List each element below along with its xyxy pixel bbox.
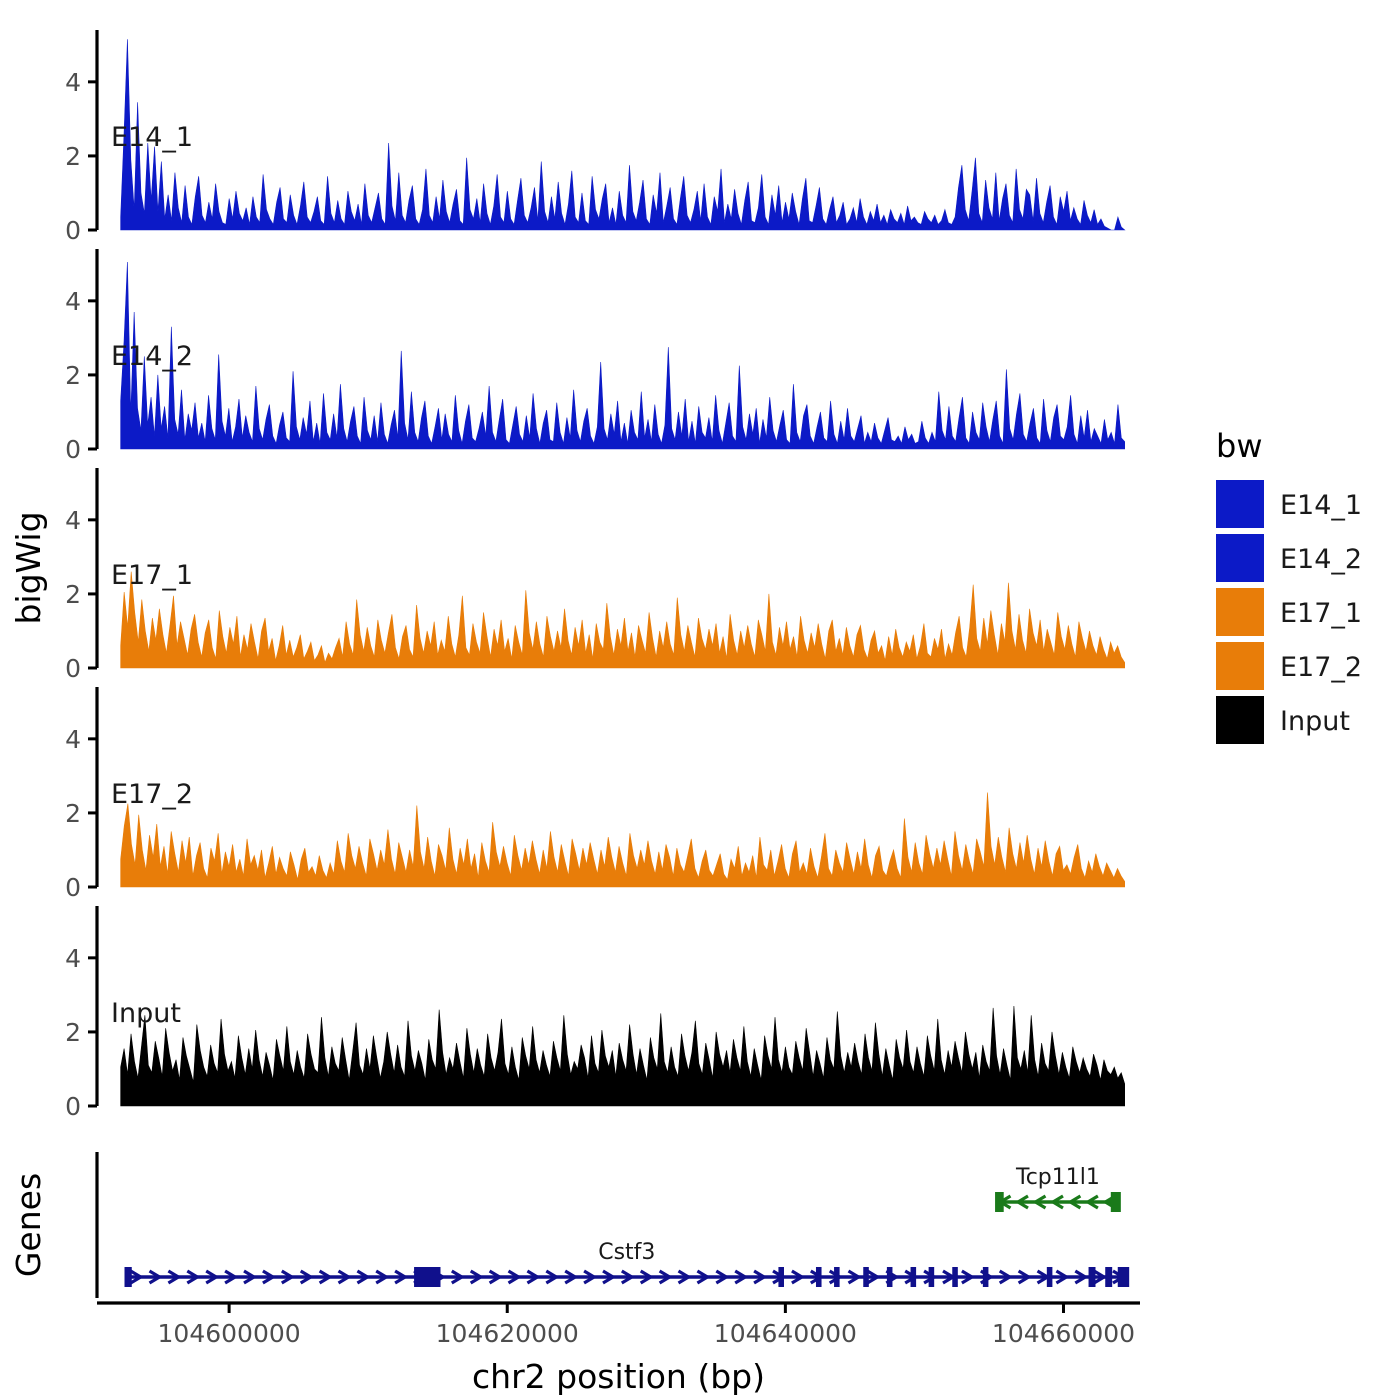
legend-item-e17_2[interactable]: E17_2 xyxy=(1216,642,1362,690)
track-name-label-input: Input xyxy=(111,998,181,1029)
x-axis-title: chr2 position (bp) xyxy=(472,1357,765,1396)
legend-item-e14_1[interactable]: E14_1 xyxy=(1216,480,1362,528)
genome-browser-figure: 024E14_1024E14_2024E17_1024E17_2024Input… xyxy=(0,0,1400,1400)
legend-label-e14_2: E14_2 xyxy=(1280,544,1362,575)
gene-cstf3[interactable]: Cstf3 xyxy=(126,1240,1127,1287)
y-tick-label-e17_1-2: 2 xyxy=(65,580,81,609)
track-panel-e17_2: 024E17_2 xyxy=(65,687,1125,902)
track-name-label-e14_1: E14_1 xyxy=(111,122,193,153)
track-panel-e14_2: 024E14_2 xyxy=(65,249,1125,464)
y-tick-label-e14_1-0: 0 xyxy=(65,216,81,245)
signal-area-input xyxy=(121,1006,1125,1106)
y-tick-label-e14_1-4: 4 xyxy=(65,68,81,97)
y-tick-label-input-0: 0 xyxy=(65,1092,81,1121)
gene-tcp11l1[interactable]: Tcp11l1 xyxy=(997,1165,1119,1212)
signal-area-e17_2 xyxy=(121,793,1125,887)
gene-exon xyxy=(911,1267,917,1287)
track-panel-e17_1: 024E17_1 xyxy=(65,468,1125,683)
legend-swatch-input xyxy=(1216,696,1264,744)
gene-exon xyxy=(929,1267,935,1287)
legend-item-e17_1[interactable]: E17_1 xyxy=(1216,588,1362,636)
gene-exon xyxy=(834,1267,840,1287)
legend: bwE14_1E14_2E17_1E17_2Input xyxy=(1216,427,1362,744)
gene-exon xyxy=(414,1267,440,1287)
track-panel-e14_1: 024E14_1 xyxy=(65,30,1125,245)
legend-label-e17_1: E17_1 xyxy=(1280,598,1362,629)
y-tick-label-e17_1-0: 0 xyxy=(65,654,81,683)
y-tick-label-e17_2-4: 4 xyxy=(65,725,81,754)
y-tick-label-e17_2-2: 2 xyxy=(65,799,81,828)
x-tick-label-104600000: 104600000 xyxy=(158,1319,301,1348)
gene-exon xyxy=(1089,1267,1096,1287)
legend-title: bw xyxy=(1216,427,1262,465)
y-tick-label-e14_2-4: 4 xyxy=(65,287,81,316)
signal-area-e14_1 xyxy=(121,39,1125,230)
track-panel-input: 024Input xyxy=(65,906,1125,1121)
track-name-label-e17_1: E17_1 xyxy=(111,560,193,591)
legend-label-e17_2: E17_2 xyxy=(1280,652,1362,683)
y-tick-label-e17_2-0: 0 xyxy=(65,873,81,902)
gene-exon xyxy=(778,1267,784,1287)
signal-area-e14_2 xyxy=(121,262,1125,449)
signal-area-e17_1 xyxy=(121,572,1125,668)
genes-panel: Tcp11l1Cstf3 xyxy=(97,1152,1127,1298)
y-tick-label-e14_2-0: 0 xyxy=(65,435,81,464)
legend-swatch-e14_2 xyxy=(1216,534,1264,582)
y-tick-label-e14_1-2: 2 xyxy=(65,142,81,171)
legend-item-input[interactable]: Input xyxy=(1216,696,1350,744)
legend-item-e14_2[interactable]: E14_2 xyxy=(1216,534,1362,582)
genes-axis-title: Genes xyxy=(9,1173,48,1277)
x-tick-label-104660000: 104660000 xyxy=(992,1319,1135,1348)
figure-root: 024E14_1024E14_2024E17_1024E17_2024Input… xyxy=(0,0,1400,1400)
track-name-label-e14_2: E14_2 xyxy=(111,341,193,372)
gene-exon xyxy=(952,1267,958,1287)
legend-swatch-e14_1 xyxy=(1216,480,1264,528)
track-name-label-e17_2: E17_2 xyxy=(111,779,193,810)
legend-label-input: Input xyxy=(1280,706,1350,737)
y-tick-label-e14_2-2: 2 xyxy=(65,361,81,390)
gene-exon xyxy=(983,1267,989,1287)
x-tick-label-104620000: 104620000 xyxy=(436,1319,579,1348)
gene-name-label-tcp11l1: Tcp11l1 xyxy=(1015,1165,1100,1190)
y-tick-label-input-2: 2 xyxy=(65,1018,81,1047)
gene-exon xyxy=(863,1267,869,1287)
legend-label-e14_1: E14_1 xyxy=(1280,490,1362,521)
gene-exon xyxy=(816,1267,822,1287)
gene-exon xyxy=(1105,1267,1112,1287)
legend-swatch-e17_2 xyxy=(1216,642,1264,690)
legend-swatch-e17_1 xyxy=(1216,588,1264,636)
x-axis: 104600000104620000104640000104660000 xyxy=(97,1303,1140,1348)
y-tick-label-input-4: 4 xyxy=(65,944,81,973)
x-tick-label-104640000: 104640000 xyxy=(714,1319,857,1348)
y-axis-title: bigWig xyxy=(9,511,48,624)
gene-exon xyxy=(1047,1267,1053,1287)
gene-exon xyxy=(887,1267,893,1287)
y-tick-label-e17_1-4: 4 xyxy=(65,506,81,535)
gene-name-label-cstf3: Cstf3 xyxy=(598,1240,655,1265)
